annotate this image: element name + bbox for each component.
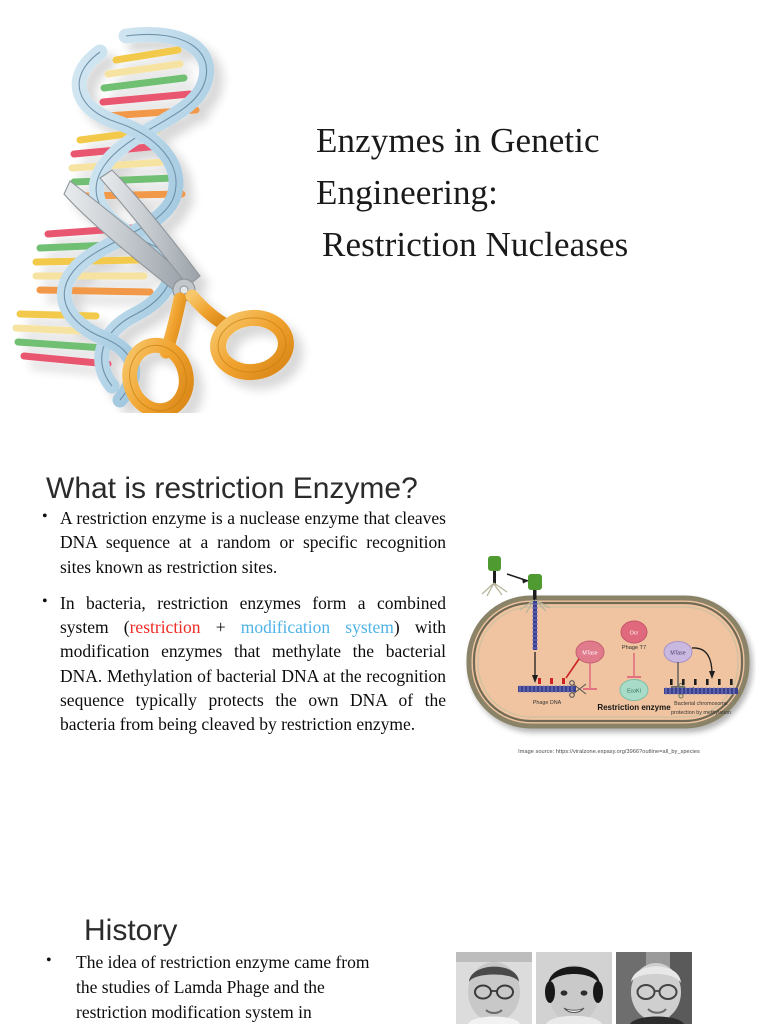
bullet-list-what: A restriction enzyme is a nuclease enzym… <box>38 506 446 737</box>
portrait-photo-3 <box>616 952 692 1024</box>
page-heading-what-is-restriction-enzyme: What is restriction Enzyme? <box>46 471 418 507</box>
portrait-photo-1 <box>456 952 532 1024</box>
mtase-left: MTase <box>576 641 604 663</box>
ecoki-enzyme: EcoKI <box>620 680 648 701</box>
mtase-right: MTase <box>664 642 692 663</box>
list-item: A restriction enzyme is a nuclease enzym… <box>38 506 446 579</box>
list-item: In bacteria, restriction enzymes form a … <box>38 591 446 737</box>
figure-caption-image-source: Image source: https://viralzone.expasy.o… <box>462 748 756 756</box>
dna-helix-with-scissors-illustration <box>8 18 318 413</box>
body-text-history: The idea of restriction enzyme came from… <box>38 950 390 1025</box>
bullet-text-rm-plus: + <box>201 617 241 637</box>
highlight-modification-system: modification system <box>241 617 394 637</box>
title-line-1: Enzymes in Genetic <box>316 115 752 167</box>
restriction-modification-system-diagram: Phage DNA MTase <box>462 548 756 746</box>
bullet-text-definition: A restriction enzyme is a nuclease enzym… <box>60 508 446 577</box>
body-text-what-is-restriction-enzyme: A restriction enzyme is a nuclease enzym… <box>38 506 446 737</box>
label-bacterial-chromosome-line1: Bacterial chromosome <box>674 701 728 707</box>
ocr-protein: Ocr <box>621 621 647 643</box>
label-ocr: Ocr <box>630 631 639 637</box>
slide-title: Enzymes in Genetic Engineering: Restrict… <box>0 0 768 430</box>
scientist-portraits <box>456 952 694 1024</box>
portrait-photo-2 <box>536 952 612 1024</box>
slide-title-block: Enzymes in Genetic Engineering: Restrict… <box>316 115 752 271</box>
page-heading-history: History <box>84 913 177 949</box>
title-line-2: Engineering: <box>316 167 752 219</box>
label-ecoki: EcoKI <box>627 689 641 695</box>
title-line-3: Restriction Nucleases <box>316 219 752 271</box>
label-bacterial-chromosome-line2: protection by methylation <box>671 710 731 716</box>
slide-what-is-restriction-enzyme: What is restriction Enzyme? A restrictio… <box>0 430 768 870</box>
label-restriction-enzyme: Restriction enzyme <box>597 703 671 712</box>
list-item: The idea of restriction enzyme came from… <box>38 950 390 1025</box>
bullet-list-history: The idea of restriction enzyme came from… <box>38 950 390 1025</box>
label-phage-dna: Phage DNA <box>533 700 562 706</box>
label-mtase-right: MTase <box>670 651 685 657</box>
figure-restriction-modification-system: Phage DNA MTase <box>462 548 756 756</box>
highlight-restriction: restriction <box>130 617 201 637</box>
bullet-text-history-origin: The idea of restriction enzyme came from… <box>76 952 369 1022</box>
label-mtase-left: MTase <box>582 651 597 657</box>
label-phage-t7: Phage T7 <box>622 645 646 651</box>
